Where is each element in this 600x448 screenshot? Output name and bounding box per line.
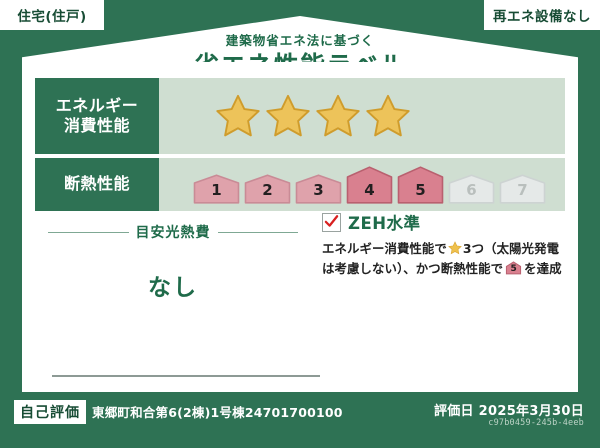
insulation-grade-badge: 6 bbox=[448, 174, 495, 204]
zeh-title-row: ZEH水準 bbox=[322, 210, 562, 234]
insulation-grade-number: 1 bbox=[193, 181, 240, 199]
insulation-grade-number: 7 bbox=[499, 181, 546, 199]
star-icon bbox=[215, 93, 261, 139]
star-icon bbox=[315, 93, 361, 139]
star-rating bbox=[215, 93, 411, 139]
check-icon bbox=[324, 214, 339, 229]
row-insulation-value: 1234567 bbox=[159, 158, 565, 211]
row-insulation-label: 断熱性能 bbox=[35, 158, 159, 211]
self-evaluation-badge: 自己評価 bbox=[14, 400, 86, 424]
zeh-block: ZEH水準 エネルギー消費性能で3つ（太陽光発電 は考慮しない）、かつ断熱性能で… bbox=[322, 210, 562, 279]
label-card: エネルギー 消費性能 断熱性能 1234567 目安光熱費 なし bbox=[22, 62, 578, 392]
row-insulation-label-line1: 断熱性能 bbox=[64, 174, 130, 194]
row-energy-label-line2: 消費性能 bbox=[64, 116, 130, 136]
row-energy-performance: エネルギー 消費性能 bbox=[35, 78, 565, 154]
utility-cost-block: 目安光熱費 なし bbox=[48, 222, 298, 302]
inline-insulation-badge: 5 bbox=[505, 261, 522, 275]
utility-cost-value: なし bbox=[48, 268, 298, 302]
label-footer: 自己評価 東郷町和合第6(2棟)1号棟24701700100 評価日 2025年… bbox=[0, 392, 600, 448]
row-insulation-performance: 断熱性能 1234567 bbox=[35, 158, 565, 211]
insulation-grade-badge: 4 bbox=[346, 166, 393, 204]
tag-renewable-energy: 再エネ設備なし bbox=[484, 0, 600, 30]
insulation-grade-number: 5 bbox=[397, 181, 444, 199]
star-icon bbox=[365, 93, 411, 139]
document-id: c97b0459-245b-4eeb bbox=[488, 418, 584, 428]
heading-rule-right bbox=[218, 232, 299, 233]
utility-cost-heading: 目安光熱費 bbox=[48, 222, 298, 242]
zeh-checkbox[interactable] bbox=[322, 213, 341, 232]
row-energy-label: エネルギー 消費性能 bbox=[35, 78, 159, 154]
insulation-grade-badge: 1 bbox=[193, 174, 240, 204]
tag-building-type: 住宅(住戸) bbox=[0, 0, 104, 30]
insulation-grade-number: 3 bbox=[295, 181, 342, 199]
insulation-grade-badge: 3 bbox=[295, 174, 342, 204]
energy-performance-label: 住宅(住戸) 再エネ設備なし 建築物省エネ法に基づく 省エネ性能ラベル エネルギ… bbox=[0, 0, 600, 448]
zeh-desc-part2: は考慮しない）、かつ断熱性能で bbox=[322, 261, 503, 276]
utility-cost-heading-text: 目安光熱費 bbox=[136, 222, 211, 242]
star-icon bbox=[265, 93, 311, 139]
property-address: 東郷町和合第6(2棟)1号棟24701700100 bbox=[92, 402, 343, 421]
zeh-desc-part1: エネルギー消費性能で bbox=[322, 241, 447, 256]
insulation-grade-number: 6 bbox=[448, 181, 495, 199]
zeh-desc-part3: を達成 bbox=[524, 261, 561, 276]
row-energy-label-line1: エネルギー bbox=[56, 96, 139, 116]
insulation-grade-scale: 1234567 bbox=[193, 166, 546, 204]
inline-badge-number: 5 bbox=[505, 262, 522, 277]
utility-cost-underline bbox=[52, 375, 320, 377]
row-energy-value bbox=[159, 78, 565, 154]
zeh-title: ZEH水準 bbox=[348, 210, 421, 234]
heading-rule-left bbox=[48, 232, 129, 233]
insulation-grade-badge: 7 bbox=[499, 174, 546, 204]
insulation-grade-badge: 2 bbox=[244, 174, 291, 204]
zeh-desc-stars: 3つ（太陽光発電 bbox=[463, 241, 559, 256]
star-icon bbox=[448, 241, 462, 255]
insulation-grade-badge: 5 bbox=[397, 166, 444, 204]
insulation-grade-number: 4 bbox=[346, 181, 393, 199]
insulation-grade-number: 2 bbox=[244, 181, 291, 199]
label-subtitle: 建築物省エネ法に基づく bbox=[0, 34, 600, 48]
zeh-description: エネルギー消費性能で3つ（太陽光発電 は考慮しない）、かつ断熱性能で5を達成 bbox=[322, 239, 562, 279]
evaluation-date: 評価日 2025年3月30日 bbox=[434, 400, 584, 419]
